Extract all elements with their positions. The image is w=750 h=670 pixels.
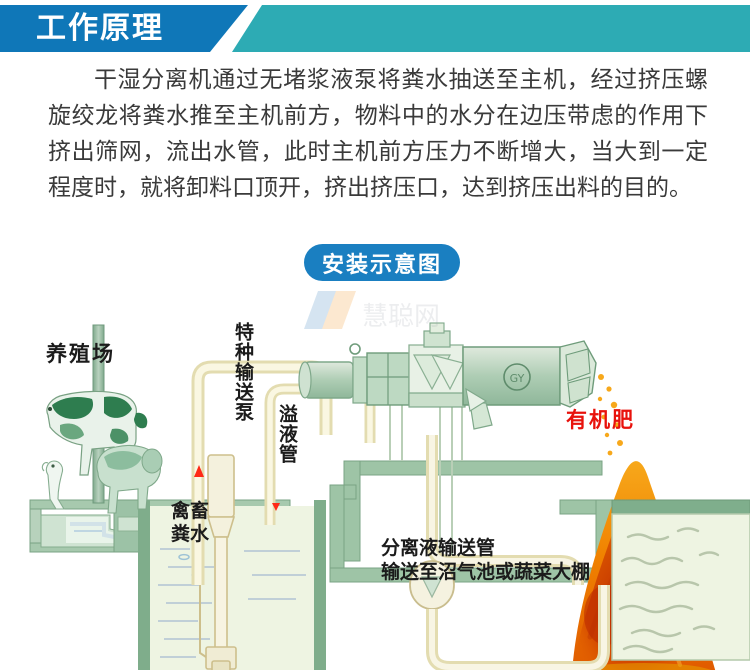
solid-liquid-separator-machine: GY xyxy=(299,323,596,429)
installation-diagram-badge: 安装示意图 xyxy=(304,244,460,281)
label-organic-fertilizer: 有机肥 xyxy=(566,404,635,434)
label-farm: 养殖场 xyxy=(46,338,115,368)
label-manure-water: 禽畜粪水 xyxy=(171,500,213,546)
svg-text:慧聪网: 慧聪网 xyxy=(362,302,440,332)
watermark: 慧聪网 xyxy=(304,291,440,332)
label-separated-liquid-pipe-line1: 分离液输送管 xyxy=(381,536,590,560)
receiving-water-tank xyxy=(612,500,750,660)
label-separated-liquid-pipe-line2: 输送至沼气池或蔬菜大棚 xyxy=(381,560,590,584)
installation-diagram-badge-label: 安装示意图 xyxy=(322,247,442,279)
svg-text:GY: GY xyxy=(510,372,525,385)
banner-teal-shape xyxy=(232,5,750,52)
label-separated-liquid-pipe: 分离液输送管 输送至沼气池或蔬菜大棚 xyxy=(381,536,590,584)
page-root: 工作原理 干湿分离机通过无堵浆液泵将粪水抽送至主机，经过挤压螺旋绞龙将粪水推至主… xyxy=(0,0,750,670)
section-header-banner: 工作原理 xyxy=(0,5,750,52)
label-special-pump: 特种输送泵 xyxy=(232,322,254,422)
page-title: 工作原理 xyxy=(36,12,164,45)
working-principle-paragraph: 干湿分离机通过无堵浆液泵将粪水抽送至主机，经过挤压螺旋绞龙将粪水推至主机前方，物… xyxy=(48,62,708,206)
label-overflow-pipe: 溢液管 xyxy=(276,404,298,464)
